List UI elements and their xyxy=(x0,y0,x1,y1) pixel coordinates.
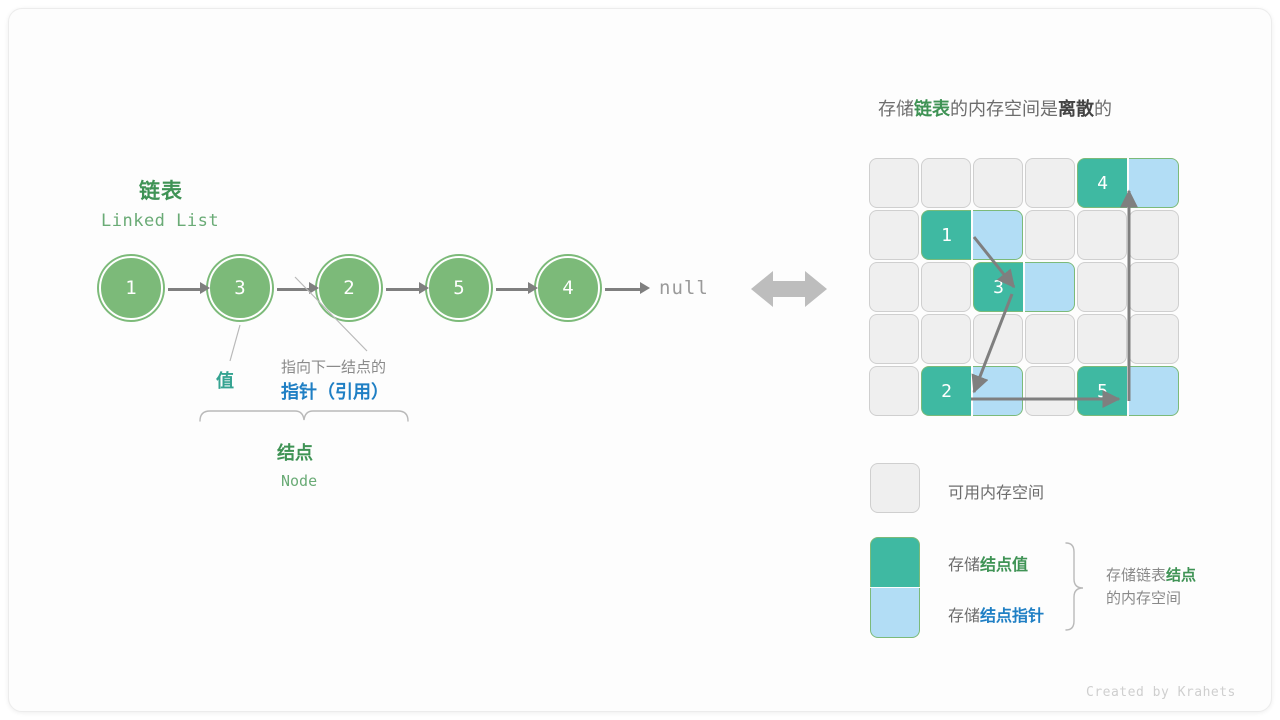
memory-cell-pointer-5 xyxy=(1129,366,1179,416)
legend-label-value-pre: 存储 xyxy=(948,557,980,574)
memory-title-part-1: 链表 xyxy=(914,99,950,119)
memory-grid: 4 1 3 2 5 xyxy=(869,158,1185,422)
list-arrow-line-5 xyxy=(605,288,645,291)
memory-title: 存储链表的内存空间是离散的 xyxy=(878,95,1112,121)
memory-cell-r2c5 xyxy=(1129,262,1179,312)
legend-label-value-bold: 结点值 xyxy=(980,557,1028,574)
annotation-pointer-main: 指针（引用） xyxy=(281,378,389,404)
legend-brace-line2: 的内存空间 xyxy=(1106,590,1181,607)
annotation-node-cn: 结点 xyxy=(277,439,313,465)
memory-cell-r0c2 xyxy=(973,158,1023,208)
memory-cell-pointer-4 xyxy=(1129,158,1179,208)
memory-cell-value-1: 1 xyxy=(921,210,971,260)
list-arrow-line-4 xyxy=(496,288,528,291)
legend-swatch-pointer xyxy=(870,588,920,638)
legend-label-pointer: 存储结点指针 xyxy=(948,602,1044,626)
linked-list-title-en: Linked List xyxy=(101,211,219,231)
legend-label-value: 存储结点值 xyxy=(948,551,1028,575)
list-node-1: 1 xyxy=(99,256,163,320)
list-arrow-head-3 xyxy=(419,282,429,294)
legend-brace-label: 存储链表结点 的内存空间 xyxy=(1106,565,1196,610)
memory-cell-pointer-3 xyxy=(1025,262,1075,312)
memory-cell-pointer-1 xyxy=(973,210,1023,260)
memory-cell-value-4: 4 xyxy=(1077,158,1127,208)
list-arrow-head-5 xyxy=(640,282,650,294)
legend-label-pointer-bold: 结点指针 xyxy=(980,608,1044,625)
memory-cell-r0c0 xyxy=(869,158,919,208)
null-terminator-label: null xyxy=(659,277,709,299)
legend-brace-line1-pre: 存储链表 xyxy=(1106,567,1166,584)
memory-cell-r0c3 xyxy=(1025,158,1075,208)
list-node-4: 5 xyxy=(427,256,491,320)
memory-cell-r3c5 xyxy=(1129,314,1179,364)
list-node-2: 3 xyxy=(208,256,272,320)
memory-cell-r4c0 xyxy=(869,366,919,416)
list-arrow-head-2 xyxy=(309,282,319,294)
memory-cell-r3c3 xyxy=(1025,314,1075,364)
memory-cell-r0c1 xyxy=(921,158,971,208)
legend-label-pointer-pre: 存储 xyxy=(948,608,980,625)
list-arrow-line-2 xyxy=(277,288,309,291)
memory-cell-r3c1 xyxy=(921,314,971,364)
memory-title-part-3: 离散 xyxy=(1058,99,1094,119)
memory-cell-r2c4 xyxy=(1077,262,1127,312)
memory-title-part-2: 的内存空间是 xyxy=(950,99,1058,119)
memory-cell-value-5: 5 xyxy=(1077,366,1127,416)
memory-cell-r3c4 xyxy=(1077,314,1127,364)
annotation-pointer-sub: 指向下一结点的 xyxy=(281,356,386,377)
credit-text: Created by Krahets xyxy=(1086,685,1236,700)
diagram-card: 链表 Linked List 1 3 2 5 4 null 值 指向下一结点的 … xyxy=(8,8,1272,712)
annotation-node-en: Node xyxy=(281,472,317,490)
legend-swatch-free xyxy=(870,463,920,513)
annotation-value-label: 值 xyxy=(216,367,234,393)
legend-label-free: 可用内存空间 xyxy=(948,479,1044,503)
memory-cell-r3c2 xyxy=(973,314,1023,364)
list-arrow-head-4 xyxy=(528,282,538,294)
memory-cell-r4c3 xyxy=(1025,366,1075,416)
memory-cell-value-2: 2 xyxy=(921,366,971,416)
memory-cell-pointer-2 xyxy=(973,366,1023,416)
list-arrow-line-1 xyxy=(168,288,200,291)
memory-cell-r3c0 xyxy=(869,314,919,364)
memory-title-part-4: 的 xyxy=(1094,99,1112,119)
legend-brace-line1-bold: 结点 xyxy=(1166,567,1196,584)
memory-cell-r1c5 xyxy=(1129,210,1179,260)
list-node-5: 4 xyxy=(536,256,600,320)
legend-swatch-value xyxy=(870,537,920,587)
memory-cell-r1c0 xyxy=(869,210,919,260)
memory-cell-r1c4 xyxy=(1077,210,1127,260)
memory-cell-r2c0 xyxy=(869,262,919,312)
list-arrow-head-1 xyxy=(200,282,210,294)
memory-cell-value-3: 3 xyxy=(973,262,1023,312)
memory-cell-r2c1 xyxy=(921,262,971,312)
memory-title-part-0: 存储 xyxy=(878,99,914,119)
linked-list-title-cn: 链表 xyxy=(139,175,183,205)
list-arrow-line-3 xyxy=(386,288,419,291)
memory-cell-r1c3 xyxy=(1025,210,1075,260)
list-node-3: 2 xyxy=(317,256,381,320)
